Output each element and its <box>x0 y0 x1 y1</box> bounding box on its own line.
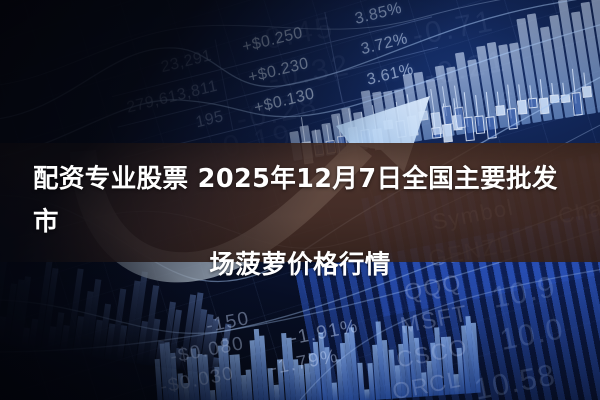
page-title-line-1: 配资专业股票 2025年12月7日全国主要批发市 <box>33 164 558 237</box>
banner-image: -0.45 -0.32 -0.28 -0.19 -0.71 -0.21 -0.1… <box>0 0 600 400</box>
page-title-line-2: 场菠萝价格行情 <box>33 244 567 287</box>
page-title: 配资专业股票 2025年12月7日全国主要批发市 场菠萝价格行情 <box>33 158 567 287</box>
